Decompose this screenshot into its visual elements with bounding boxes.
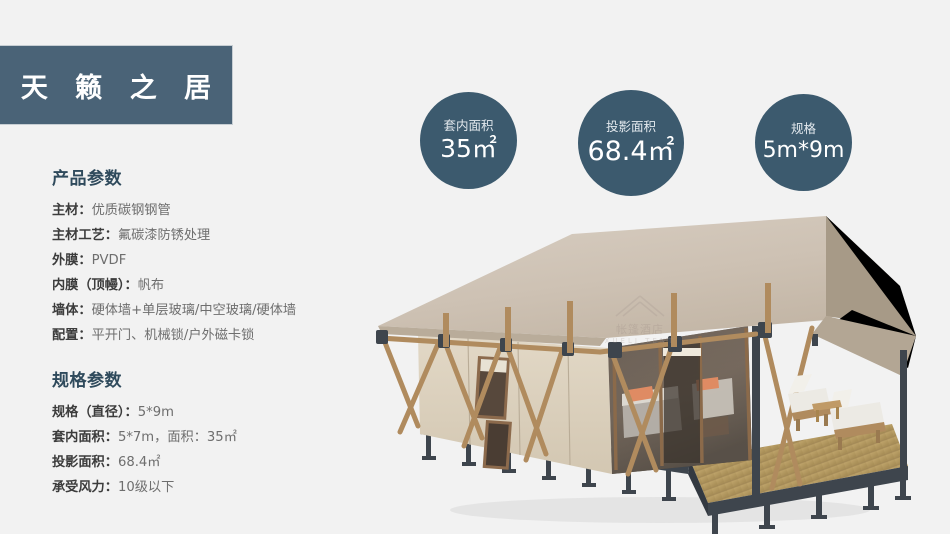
page-title: 天 籁 之 居	[12, 66, 220, 105]
stat-badge-dimensions: 规格 5m*9m	[755, 94, 852, 191]
spec-value: 68.4㎡	[118, 455, 161, 470]
spec-value: 氟碳漆防锈处理	[118, 228, 210, 243]
section-heading-specification: 规格参数	[52, 366, 382, 391]
list-item: 配置：平开门、机械锁/户外磁卡锁	[52, 323, 382, 348]
badge-value: 5m*9m	[763, 140, 845, 162]
spec-value: 硬体墙+单层玻璃/中空玻璃/硬体墙	[92, 303, 297, 318]
badge-value: 35㎡	[440, 136, 497, 161]
list-item: 外膜：PVDF	[52, 248, 382, 273]
list-item: 内膜（顶幔）：帆布	[52, 273, 382, 298]
section-heading-product: 产品参数	[52, 164, 382, 189]
ground-shadow	[450, 497, 870, 523]
spec-value: 优质碳钢钢管	[92, 203, 171, 218]
badge-caption: 投影面积	[606, 121, 656, 134]
spec-label: 承受风力：	[52, 480, 118, 495]
side-door	[483, 420, 512, 470]
brand-title-block: 天 籁 之 居	[0, 46, 232, 124]
spec-value: 5*7m，面积：35㎡	[118, 430, 237, 445]
spec-label: 外膜：	[52, 253, 92, 268]
spec-value: PVDF	[92, 253, 127, 268]
page-root: 天 籁 之 居 产品参数 主材：优质碳钢钢管 主材工艺：氟碳漆防锈处理 外膜：P…	[0, 0, 950, 534]
badge-caption: 规格	[791, 123, 816, 136]
badge-value: 68.4㎡	[587, 138, 674, 165]
list-item: 主材工艺：氟碳漆防锈处理	[52, 223, 382, 248]
long-side-wall	[418, 334, 612, 474]
spec-label: 主材工艺：	[52, 228, 118, 243]
spec-label: 套内面积：	[52, 430, 118, 445]
tent-villa-illustration	[360, 198, 950, 534]
list-item: 投影面积：68.4㎡	[52, 450, 382, 475]
badge-caption: 套内面积	[443, 120, 493, 133]
spec-value: 5*9m	[138, 405, 174, 420]
product-render-image: 帐篷酒店 XUELI TENT	[360, 198, 950, 534]
canvas-roof-main	[378, 216, 900, 338]
list-item: 规格（直径）：5*9m	[52, 400, 382, 425]
spec-value: 平开门、机械锁/户外磁卡锁	[92, 328, 255, 343]
stat-badge-projected-area: 投影面积 68.4㎡	[578, 90, 684, 196]
specification-panel: 产品参数 主材：优质碳钢钢管 主材工艺：氟碳漆防锈处理 外膜：PVDF 内膜（顶…	[52, 164, 382, 518]
spec-label: 配置：	[52, 328, 92, 343]
spec-label: 规格（直径）：	[52, 405, 138, 420]
spec-label: 主材：	[52, 203, 92, 218]
list-item: 套内面积：5*7m，面积：35㎡	[52, 425, 382, 450]
specification-parameter-list: 规格（直径）：5*9m 套内面积：5*7m，面积：35㎡ 投影面积：68.4㎡ …	[52, 400, 382, 500]
spec-value: 10级以下	[118, 480, 174, 495]
list-item: 主材：优质碳钢钢管	[52, 198, 382, 223]
stat-badge-interior-area: 套内面积 35㎡	[420, 92, 517, 189]
product-parameter-list: 主材：优质碳钢钢管 主材工艺：氟碳漆防锈处理 外膜：PVDF 内膜（顶幔）：帆布…	[52, 198, 382, 348]
list-item: 承受风力：10级以下	[52, 475, 382, 500]
spec-value: 帆布	[138, 278, 164, 293]
list-item: 墙体：硬体墙+单层玻璃/中空玻璃/硬体墙	[52, 298, 382, 323]
spec-label: 投影面积：	[52, 455, 118, 470]
spec-label: 内膜（顶幔）：	[52, 278, 138, 293]
spec-label: 墙体：	[52, 303, 92, 318]
